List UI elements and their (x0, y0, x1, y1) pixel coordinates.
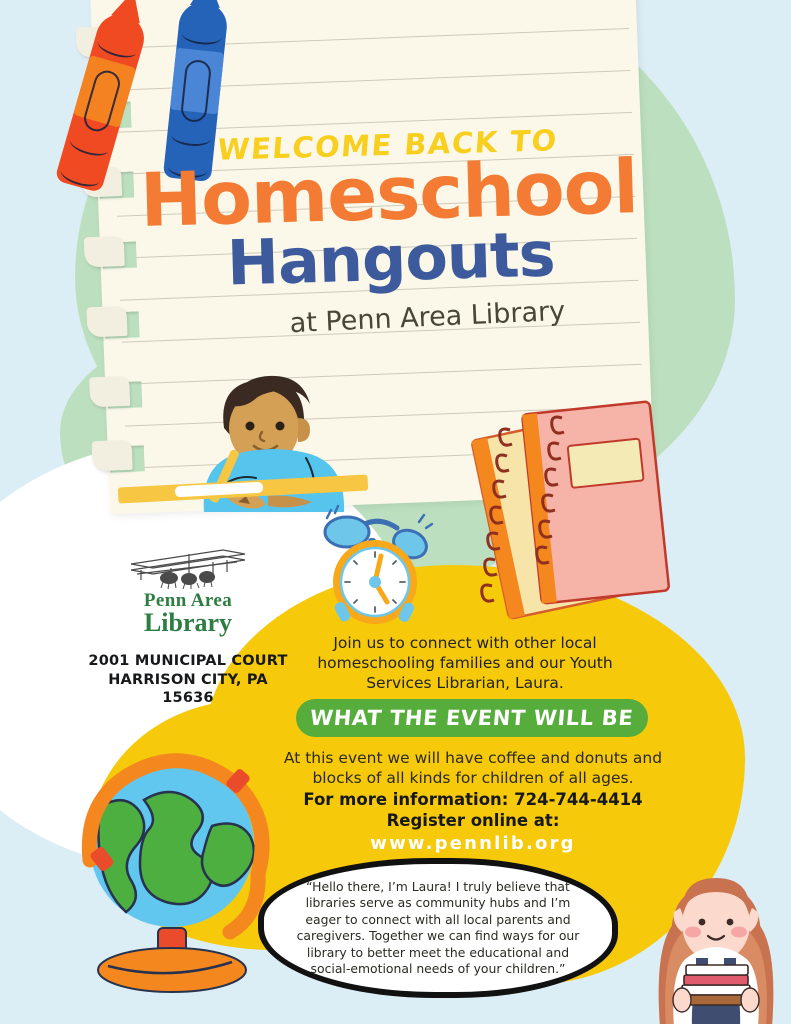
event-description: At this event we will have coffee and do… (278, 748, 668, 788)
event-banner-label: WHAT THE EVENT WILL BE (309, 706, 634, 730)
alarm-clock-illustration (315, 498, 435, 628)
spiral-notebooks-illustration (470, 390, 700, 630)
librarian-quote-text: “Hello there, I’m Laura! I truly believe… (288, 879, 588, 978)
what-the-event-will-be-banner: WHAT THE EVENT WILL BE (296, 699, 648, 737)
poster-canvas: WELCOME BACK TO Homeschool Hangouts at P… (0, 0, 791, 1024)
library-logo-block: Penn Area Library 2001 MUNICIPAL COURT H… (88, 548, 288, 708)
address-line-1: 2001 MUNICIPAL COURT (88, 652, 288, 671)
intro-paragraph: Join us to connect with other local home… (300, 634, 630, 693)
phone-line: For more information: 724-744-4414 (278, 790, 668, 811)
logo-text-library: Library (88, 610, 288, 636)
address-line-3: 15636 (88, 689, 288, 708)
register-line: Register online at: (278, 811, 668, 832)
desk-globe-illustration (72, 748, 277, 998)
headline-group: WELCOME BACK TO Homeschool Hangouts at P… (137, 121, 643, 341)
contact-block: For more information: 724-744-4414 Regis… (278, 790, 668, 854)
librarian-with-books-illustration (636, 852, 791, 1024)
librarian-quote-bubble: “Hello there, I’m Laura! I truly believe… (258, 858, 618, 998)
website-link[interactable]: www.pennlib.org (278, 833, 668, 854)
address-line-2: HARRISON CITY, PA (88, 671, 288, 690)
penn-area-library-logomark (127, 548, 249, 592)
library-address: 2001 MUNICIPAL COURT HARRISON CITY, PA 1… (88, 652, 288, 708)
